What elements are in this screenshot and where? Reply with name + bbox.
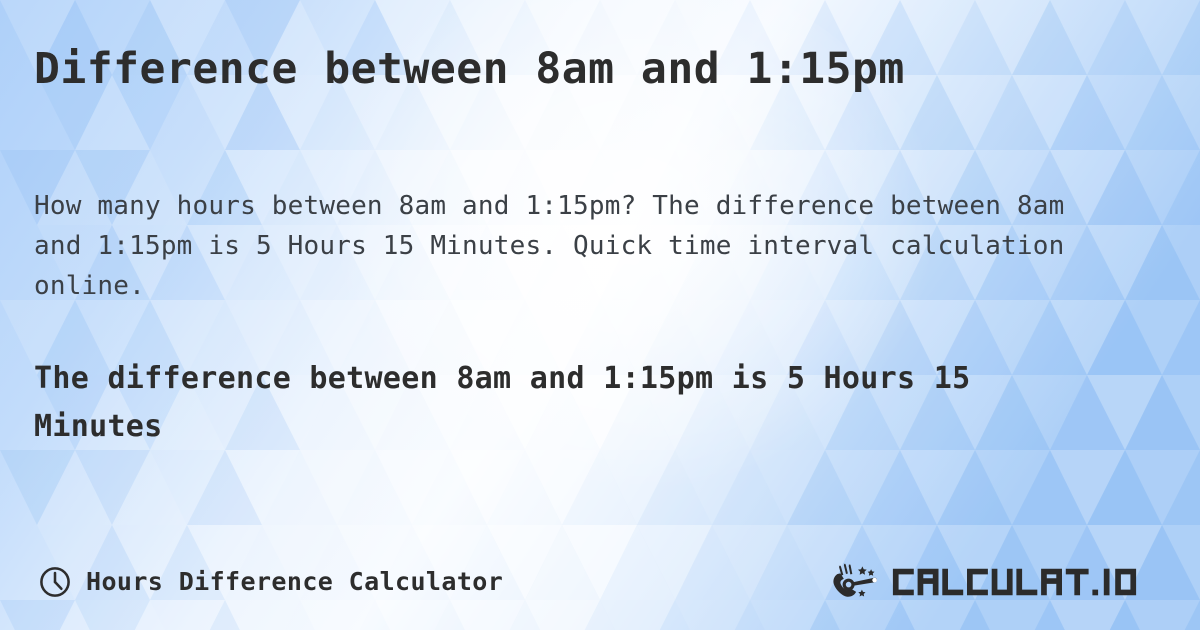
page-title: Difference between 8am and 1:15pm [34,42,1164,96]
intro-paragraph: How many hours between 8am and 1:15pm? T… [34,186,1109,306]
brand-logo[interactable] [829,560,1167,604]
share-card: Difference between 8am and 1:15pm How ma… [0,0,1200,630]
magic-wand-hand-icon [829,560,885,604]
answer-heading: The difference between 8am and 1:15pm is… [34,355,1094,451]
brand-wordmark [891,563,1167,601]
footer-tool-label: Hours Difference Calculator [86,567,503,597]
clock-icon [38,565,72,599]
footer-tool: Hours Difference Calculator [38,565,503,599]
footer-bar: Hours Difference Calculator [0,534,1200,630]
